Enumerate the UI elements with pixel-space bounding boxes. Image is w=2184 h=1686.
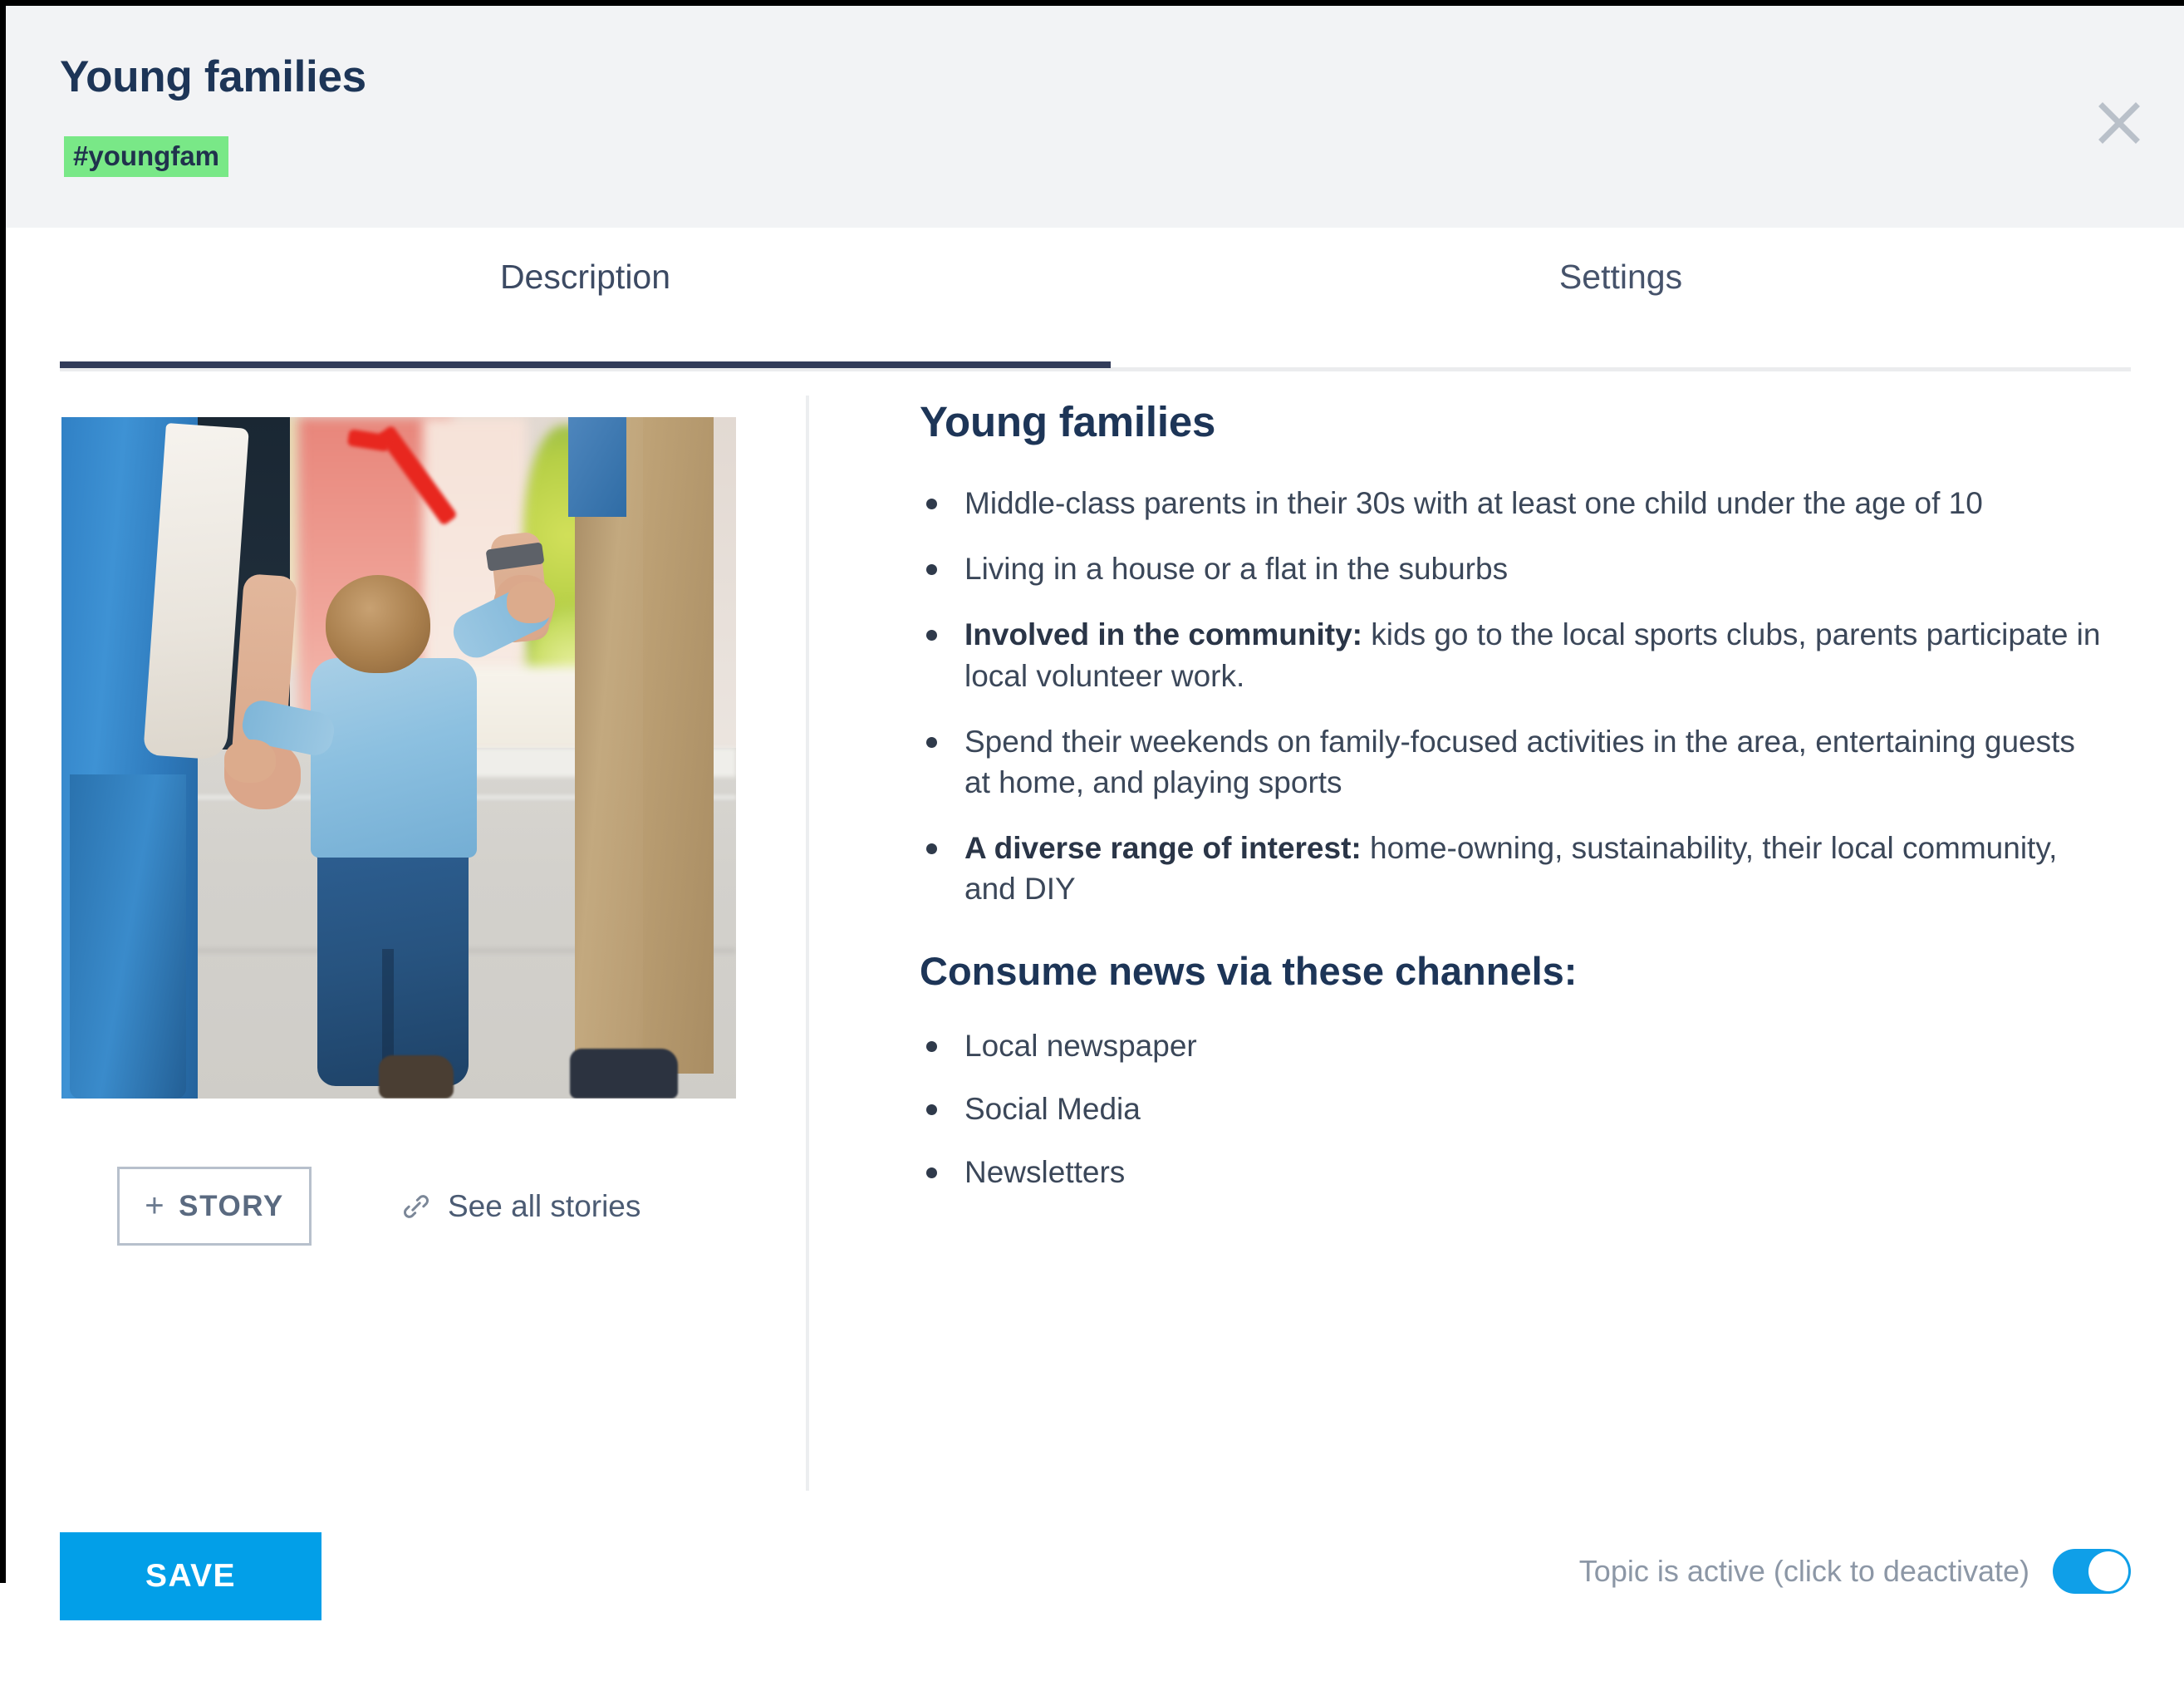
list-item-bold: Involved in the community: [964,617,1362,651]
tab-settings-label: Settings [1559,258,1682,297]
photo-child-shirt [311,658,477,858]
list-item: Living in a house or a flat in the subur… [920,548,2108,589]
list-item: Local newspaper [920,1025,2108,1066]
page-title: Young families [60,52,366,102]
list-item: A diverse range of interest: home-owning… [920,828,2108,909]
description-bullet-list: Middle-class parents in their 30s with a… [920,483,2108,910]
media-column: + STORY See all stories [61,417,736,1099]
description-title: Young families [920,397,2108,446]
add-story-label: STORY [179,1190,284,1223]
description-column: Young families Middle-class parents in t… [920,397,2108,1215]
list-item-text: Middle-class parents in their 30s with a… [964,486,1983,520]
photo-child-shoe [379,1055,454,1099]
save-button[interactable]: SAVE [60,1532,321,1620]
topic-active-toggle[interactable] [2053,1549,2131,1594]
topic-hashtag-badge: #youngfam [64,136,228,177]
photo-child-head [326,575,430,673]
photo-adult-left-jeans-leg [70,774,186,1099]
column-divider [806,396,809,1491]
topic-state-label: Topic is active (click to deactivate) [1579,1554,2029,1589]
close-icon [2088,91,2151,155]
channels-list: Local newspaper Social Media Newsletters [920,1025,2108,1193]
list-item-text: Local newspaper [964,1029,1197,1063]
list-item: Newsletters [920,1152,2108,1192]
list-item-bold: A diverse range of interest: [964,831,1362,865]
topic-photo [61,417,736,1099]
list-item: Spend their weekends on family-focused a… [920,721,2108,803]
plus-icon: + [145,1187,165,1225]
channels-title: Consume news via these channels: [920,948,2108,994]
toggle-knob [2088,1551,2128,1591]
list-item: Social Media [920,1089,2108,1129]
tab-settings[interactable]: Settings [1111,258,2131,369]
list-item-text: Spend their weekends on family-focused a… [964,725,2075,799]
media-actions: + STORY See all stories [117,1167,640,1246]
list-item-text: Social Media [964,1092,1141,1126]
tab-bar: Description Settings [6,228,2184,372]
photo-child-hand-right [507,582,555,623]
tab-description-label: Description [500,258,670,297]
list-item-text: Newsletters [964,1155,1125,1189]
dialog-body: + STORY See all stories Young f [6,372,2184,1502]
link-icon [400,1190,433,1223]
window-frame-left [0,0,6,1583]
photo-adult-right-shoe [570,1049,678,1099]
list-item: Involved in the community: kids go to th… [920,614,2108,696]
list-item: Middle-class parents in their 30s with a… [920,483,2108,523]
topic-editor-dialog: Young families #youngfam Description Set… [0,0,2184,1686]
close-button[interactable] [2088,91,2151,155]
list-item-text: Living in a house or a flat in the subur… [964,552,1508,586]
see-all-stories-label: See all stories [448,1189,640,1224]
photo-adult-right-jeans [568,417,626,517]
dialog-header: Young families #youngfam [6,6,2184,228]
photo-adult-right-trousers-leg [643,417,714,1074]
dialog-footer: SAVE Topic is active (click to deactivat… [6,1502,2184,1686]
photo-child-hand-left [224,740,276,783]
see-all-stories-link[interactable]: See all stories [400,1189,640,1224]
tab-description[interactable]: Description [60,258,1111,369]
window-frame-top [0,0,2184,6]
topic-active-toggle-group[interactable]: Topic is active (click to deactivate) [1579,1549,2131,1594]
add-story-button[interactable]: + STORY [117,1167,312,1246]
